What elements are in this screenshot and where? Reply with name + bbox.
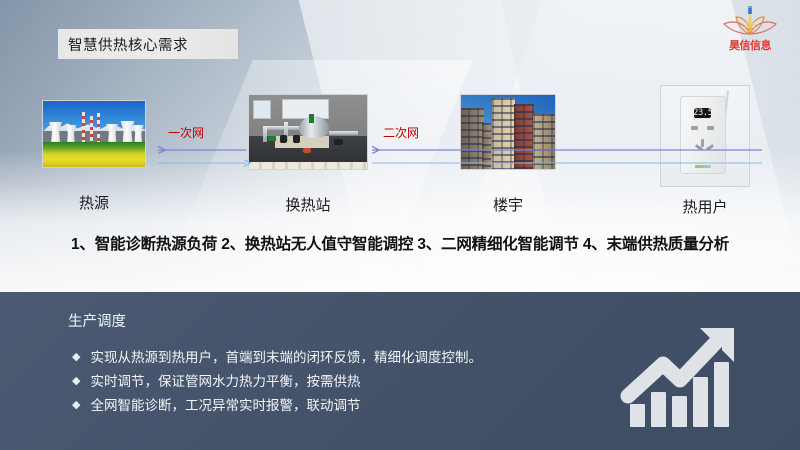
bullet-text: 实时调节，保证管网水力热力平衡，按需供热 [90, 372, 360, 391]
slide-canvas: 智慧供热核心需求 昊信信息 [0, 0, 800, 450]
flow-node-caption: 热用户 [682, 196, 727, 217]
heat-station-image [248, 94, 368, 170]
heat-user-image: 23.5 [660, 85, 750, 187]
device-display: 23.5 [694, 108, 711, 118]
production-dispatch-panel: 生产调度 ◆ 实现从热源到热用户，首端到末端的闭环反馈，精细化调度控制。 ◆ 实… [0, 292, 800, 450]
list-item: ◆ 实现从热源到热用户，首端到末端的闭环反馈，精细化调度控制。 [72, 348, 482, 367]
process-flow-row: 热源 [0, 80, 800, 220]
flow-node-caption: 换热站 [285, 194, 330, 215]
list-item: ◆ 实时调节，保证管网水力热力平衡，按需供热 [72, 372, 482, 391]
flow-node-heat-source: 热源 [42, 100, 146, 168]
connector-label-primary: 一次网 [168, 124, 204, 141]
connector-label-secondary: 二次网 [383, 124, 419, 141]
building-image [460, 94, 556, 170]
slide-title-box: 智慧供热核心需求 [58, 29, 238, 59]
key-points-line: 1、智能诊断热源负荷 2、换热站无人值守智能调控 3、二网精细化智能调节 4、末… [0, 232, 800, 254]
flow-node-caption: 热源 [79, 192, 109, 213]
bullet-list: ◆ 实现从热源到热用户，首端到末端的闭环反馈，精细化调度控制。 ◆ 实时调节，保… [72, 348, 482, 420]
panel-title: 生产调度 [68, 310, 126, 331]
logo-text: 昊信信息 [714, 37, 786, 53]
heat-source-image [42, 100, 146, 168]
flow-node-building: 楼宇 [460, 94, 556, 170]
lotus-logo: 昊信信息 [714, 4, 786, 56]
page-title: 智慧供热核心需求 [58, 34, 188, 55]
device-temperature: 23.5 [693, 108, 713, 118]
flow-node-heat-user: 23.5 热用户 [660, 85, 750, 187]
diamond-bullet-icon: ◆ [72, 348, 80, 367]
growth-bar-chart-arrow-icon [618, 322, 748, 427]
flow-node-caption: 楼宇 [493, 194, 523, 215]
bullet-text: 全网智能诊断，工况异常实时报警，联动调节 [90, 396, 360, 415]
list-item: ◆ 全网智能诊断，工况异常实时报警，联动调节 [72, 396, 482, 415]
diamond-bullet-icon: ◆ [72, 372, 80, 391]
flow-node-heat-station: 换热站 [248, 94, 368, 170]
diamond-bullet-icon: ◆ [72, 396, 80, 415]
bullet-text: 实现从热源到热用户，首端到末端的闭环反馈，精细化调度控制。 [90, 348, 482, 367]
